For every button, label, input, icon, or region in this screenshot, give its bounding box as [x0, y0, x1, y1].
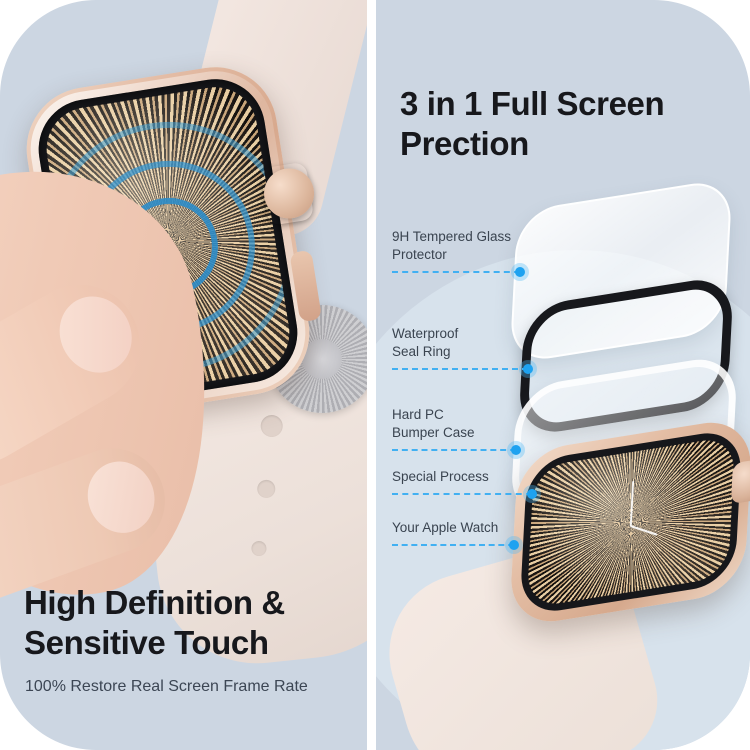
infographic-stage: High Definition & Sensitive Touch 100% R… — [0, 0, 750, 750]
leader-dot — [511, 445, 521, 455]
right-heading: 3 in 1 Full Screen Prection — [400, 84, 730, 165]
leader-dot — [509, 540, 519, 550]
leader-line — [392, 445, 475, 455]
leader-line — [392, 267, 511, 277]
leader-line — [392, 540, 498, 550]
callout-bumper-case: Hard PC Bumper Case — [392, 406, 475, 455]
leader-line — [392, 364, 458, 374]
leader-dot — [523, 364, 533, 374]
left-heading: High Definition & Sensitive Touch — [24, 583, 364, 664]
callout-tempered-glass: 9H Tempered Glass Protector — [392, 228, 511, 277]
leader-dot — [527, 489, 537, 499]
left-subtext: 100% Restore Real Screen Frame Rate — [25, 676, 355, 698]
callout-your-apple-watch: Your Apple Watch — [392, 519, 498, 550]
leader-line — [392, 489, 489, 499]
callout-label: Hard PC Bumper Case — [392, 406, 475, 442]
callout-label: Waterproof Seal Ring — [392, 325, 458, 361]
callout-label: Your Apple Watch — [392, 519, 498, 537]
callout-special-process: Special Process — [392, 468, 489, 499]
leader-dot — [515, 267, 525, 277]
left-panel: High Definition & Sensitive Touch 100% R… — [0, 0, 367, 750]
callout-seal-ring: Waterproof Seal Ring — [392, 325, 458, 374]
index-finger — [0, 263, 162, 482]
callout-label: Special Process — [392, 468, 489, 486]
callout-label: 9H Tempered Glass Protector — [392, 228, 511, 264]
